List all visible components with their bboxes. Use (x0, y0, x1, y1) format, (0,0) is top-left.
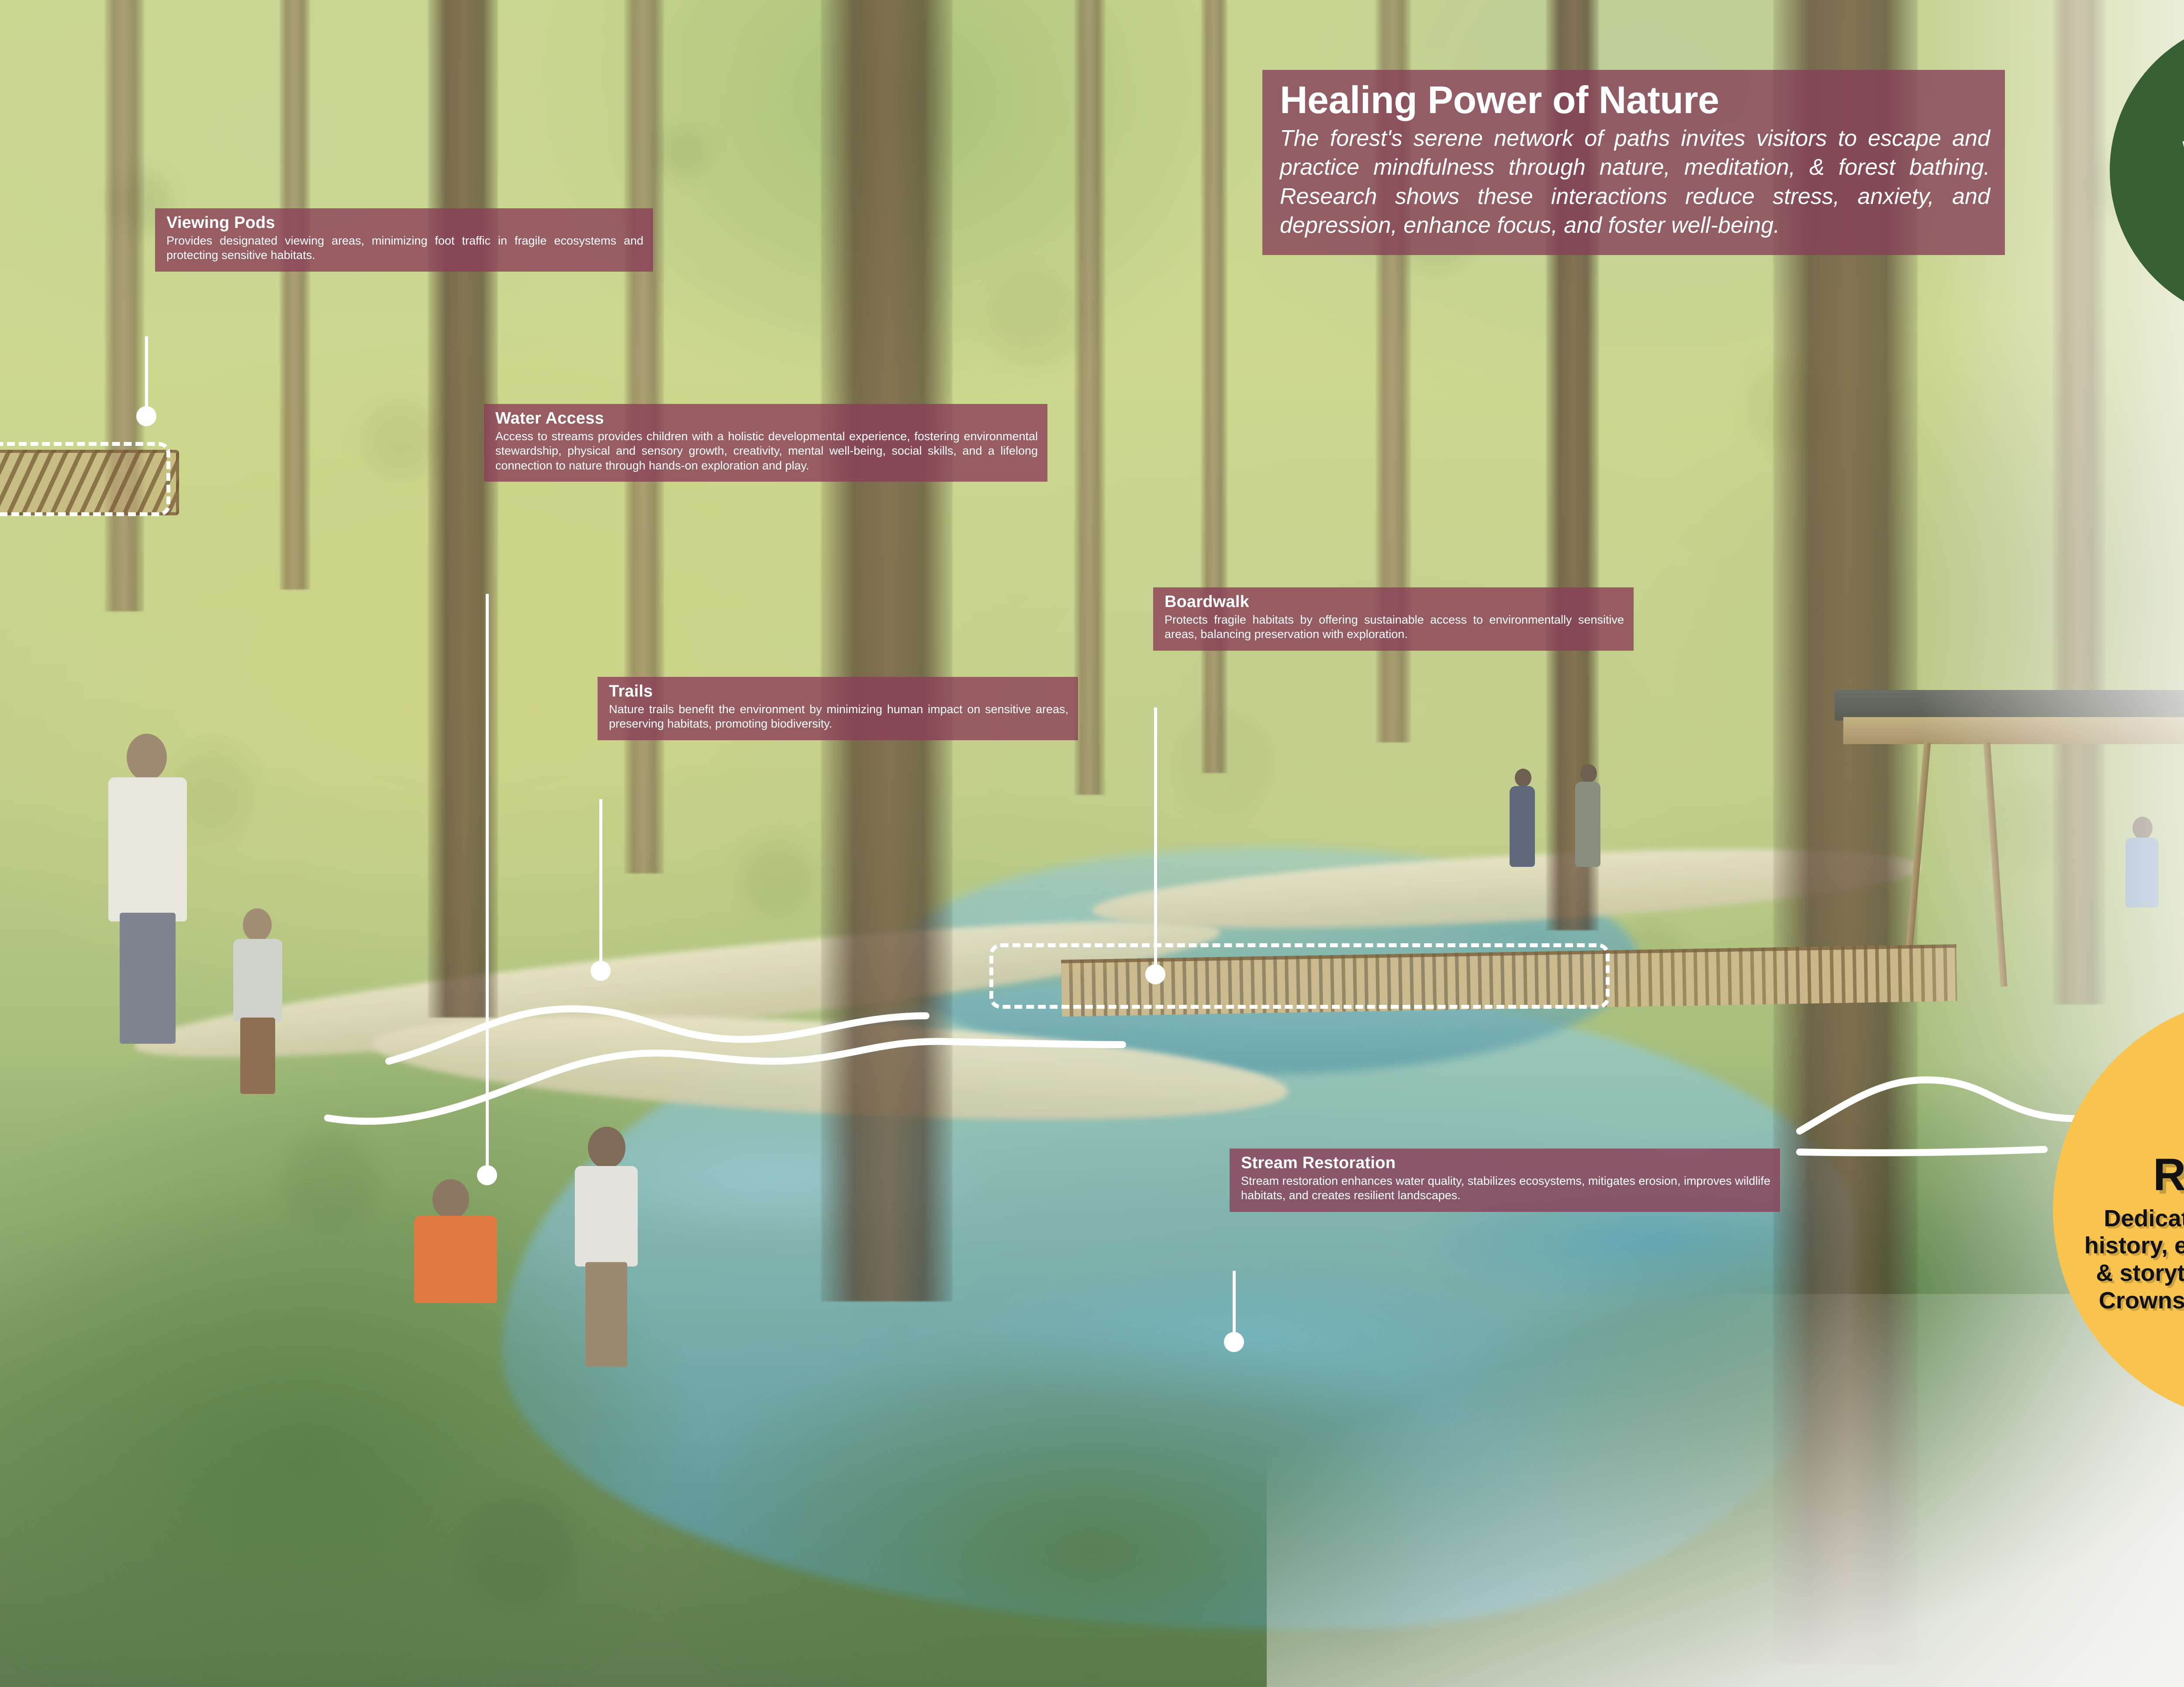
tree-trunk (280, 0, 310, 590)
page-title: Healing Power of Nature (1280, 80, 1990, 120)
figure-head (1515, 769, 1531, 787)
figure-child-wading (568, 1127, 646, 1371)
callout-body: Protects fragile habitats by offering su… (1165, 613, 1624, 642)
figure-body (1510, 786, 1535, 867)
callout-heading: Boardwalk (1165, 593, 1624, 610)
badge-subtitle: Dedicated to healing through history, ed… (2078, 1205, 2184, 1314)
figure-head (243, 908, 272, 942)
callout-body: Nature trails benefit the environment by… (609, 702, 1068, 731)
figure-body (108, 777, 187, 921)
callout-body: Access to streams provides children with… (495, 429, 1038, 473)
figure-body (575, 1166, 638, 1266)
tree-trunk (105, 0, 144, 611)
figure-legs (585, 1262, 627, 1367)
leader-line (1233, 1271, 1236, 1341)
badge-title: Health & Wellness Trails (2182, 97, 2184, 212)
figure-child-crouching (406, 1179, 511, 1323)
callout-trails: Trails Nature trails benefit the environ… (598, 677, 1078, 740)
callout-body: Stream restoration enhances water qualit… (1241, 1174, 1770, 1203)
leader-line (145, 336, 148, 415)
page-subtitle: The forest's serene network of paths inv… (1280, 124, 1990, 240)
title-panel: Healing Power of Nature The forest's ser… (1262, 70, 2005, 255)
figure-child (227, 908, 288, 1096)
figure-head (1580, 764, 1597, 783)
figure-distant-a (1507, 769, 1538, 869)
leader-line (1154, 707, 1157, 974)
figure-head (127, 734, 167, 781)
tree-trunk (1201, 0, 1227, 773)
callout-viewing-pods: Viewing Pods Provides designated viewing… (155, 208, 653, 272)
figure-body (1575, 782, 1600, 867)
badge-title: Path of Reverence (2153, 1105, 2184, 1198)
figure-legs (120, 913, 176, 1044)
callout-heading: Trails (609, 683, 1068, 700)
illustration-bottom-fade (1267, 1294, 2184, 1687)
figure-head (432, 1179, 469, 1219)
callout-heading: Viewing Pods (166, 214, 643, 231)
infographic-canvas: Healing Power of Nature The forest's ser… (0, 0, 2184, 1687)
figure-body (233, 939, 282, 1022)
callout-heading: Water Access (495, 410, 1038, 427)
figure-adult (100, 734, 192, 1048)
tree-trunk (1075, 0, 1105, 795)
callout-boardwalk: Boardwalk Protects fragile habitats by o… (1153, 587, 1634, 651)
figure-body (414, 1216, 497, 1303)
callout-stream-restoration: Stream Restoration Stream restoration en… (1230, 1149, 1780, 1212)
callout-water-access: Water Access Access to streams provides … (484, 404, 1047, 482)
figure-distant-b (1572, 764, 1603, 869)
viewing-pod-highlight-dash (0, 442, 170, 516)
leader-dot (136, 406, 156, 426)
leader-dot (477, 1165, 497, 1185)
boardwalk-highlight-dash (989, 943, 1610, 1009)
leader-dot (1224, 1332, 1244, 1352)
callout-body: Provides designated viewing areas, minim… (166, 234, 643, 263)
callout-heading: Stream Restoration (1241, 1155, 1770, 1171)
figure-legs (240, 1018, 275, 1094)
